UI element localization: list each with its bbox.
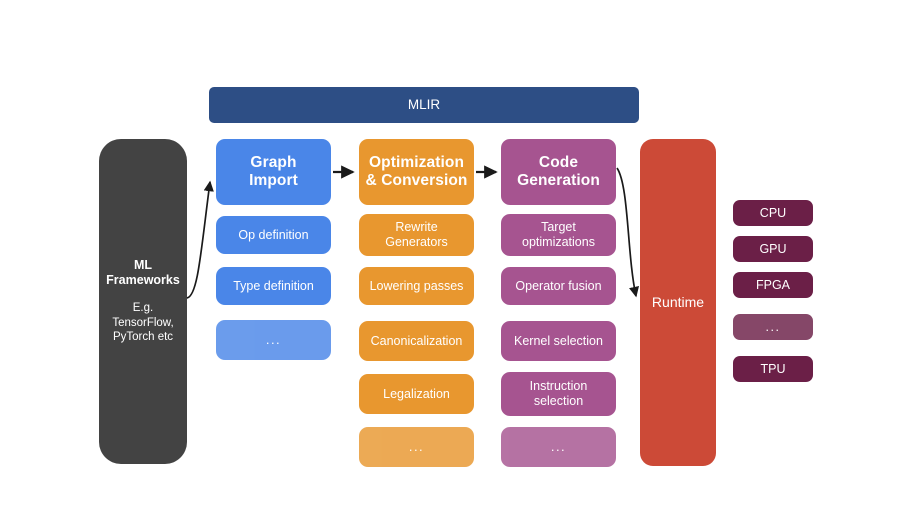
item-label: ... <box>551 439 566 454</box>
codegen-item-instruction-selection[interactable]: Instructionselection <box>501 372 616 416</box>
graph-import-item-type-definition[interactable]: Type definition <box>216 267 331 305</box>
arrow-frameworks-to-graph-import <box>187 182 210 298</box>
item-label: RewriteGenerators <box>385 220 448 250</box>
optimization-item-legalization[interactable]: Legalization <box>359 374 474 414</box>
hardware-item-gpu[interactable]: GPU <box>733 236 813 262</box>
item-label: CPU <box>760 206 786 221</box>
codegen-item-kernel-selection[interactable]: Kernel selection <box>501 321 616 361</box>
diagram-canvas: MLIR ML Frameworks E.g. TensorFlow, PyTo… <box>0 0 900 505</box>
hardware-item-fpga[interactable]: FPGA <box>733 272 813 298</box>
hardware-item-cpu[interactable]: CPU <box>733 200 813 226</box>
item-label: GPU <box>759 242 786 257</box>
ml-frameworks-subtitle: E.g. TensorFlow, PyTorch etc <box>105 301 181 344</box>
item-label: ... <box>266 332 281 347</box>
code-generation-header-label: CodeGeneration <box>517 154 600 191</box>
item-label: ... <box>409 439 424 454</box>
runtime-box[interactable]: Runtime <box>640 139 716 466</box>
item-label: Legalization <box>383 387 450 402</box>
graph-import-header[interactable]: GraphImport <box>216 139 331 205</box>
item-label: Operator fusion <box>515 279 601 294</box>
item-label: Canonicalization <box>371 334 463 349</box>
item-label: Op definition <box>238 228 308 243</box>
optimization-item-rewrite-generators[interactable]: RewriteGenerators <box>359 214 474 256</box>
codegen-item-more[interactable]: ... <box>501 427 616 467</box>
hardware-item-more[interactable]: ... <box>733 314 813 340</box>
mlir-banner: MLIR <box>209 87 639 123</box>
item-label: Kernel selection <box>514 334 603 349</box>
optimization-conversion-header[interactable]: Optimization& Conversion <box>359 139 474 205</box>
item-label: FPGA <box>756 278 790 293</box>
hardware-item-tpu[interactable]: TPU <box>733 356 813 382</box>
item-label: TPU <box>761 362 786 377</box>
optimization-item-canonicalization[interactable]: Canonicalization <box>359 321 474 361</box>
graph-import-item-more[interactable]: ... <box>216 320 331 360</box>
graph-import-item-op-definition[interactable]: Op definition <box>216 216 331 254</box>
code-generation-header[interactable]: CodeGeneration <box>501 139 616 205</box>
ml-frameworks-content: ML Frameworks E.g. TensorFlow, PyTorch e… <box>105 258 181 344</box>
item-label: ... <box>766 320 781 335</box>
arrow-codegen-to-runtime <box>617 168 636 296</box>
codegen-item-operator-fusion[interactable]: Operator fusion <box>501 267 616 305</box>
optimization-conversion-header-label: Optimization& Conversion <box>366 154 468 191</box>
ml-frameworks-title: ML Frameworks <box>105 258 181 288</box>
item-label: Instructionselection <box>530 379 588 409</box>
ml-frameworks-box: ML Frameworks E.g. TensorFlow, PyTorch e… <box>99 139 187 464</box>
optimization-item-lowering-passes[interactable]: Lowering passes <box>359 267 474 305</box>
item-label: Type definition <box>233 279 314 294</box>
mlir-banner-label: MLIR <box>408 97 440 113</box>
codegen-item-target-optimizations[interactable]: Targetoptimizations <box>501 214 616 256</box>
graph-import-header-label: GraphImport <box>249 154 298 191</box>
optimization-item-more[interactable]: ... <box>359 427 474 467</box>
item-label: Targetoptimizations <box>522 220 595 250</box>
runtime-label: Runtime <box>652 294 704 311</box>
item-label: Lowering passes <box>370 279 464 294</box>
